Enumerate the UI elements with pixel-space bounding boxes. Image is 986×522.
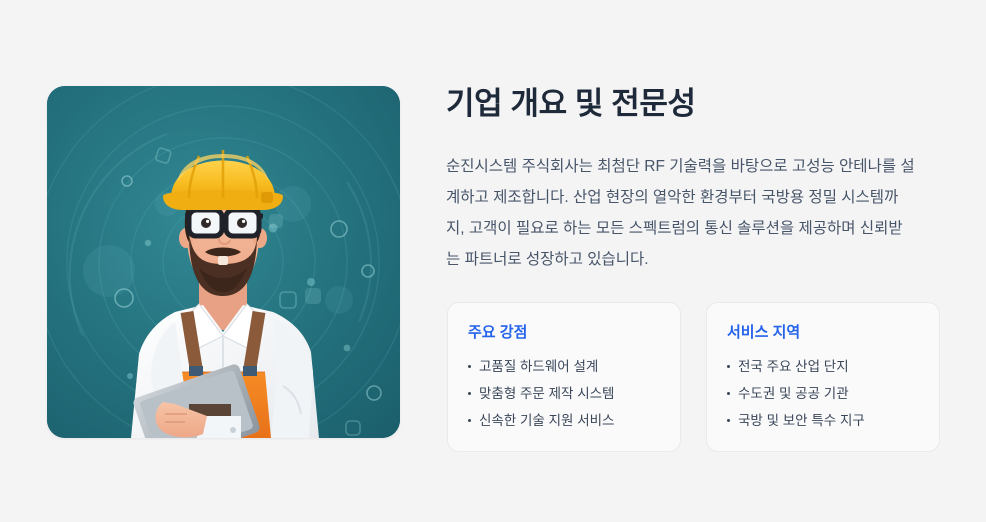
list-item-label: 신속한 기술 지원 서비스 [479, 413, 614, 428]
engineer-illustration-graphic [47, 86, 400, 438]
list-item: 신속한 기술 지원 서비스 [468, 407, 660, 434]
bullet-icon [468, 419, 471, 422]
intro-paragraph: 순진시스템 주식회사는 최첨단 RF 기술력을 바탕으로 고성능 안테나를 설계… [446, 151, 916, 275]
bullet-icon [727, 392, 730, 395]
highlight-card-row: 주요 강점 고품질 하드웨어 설계 맞춤형 주문 제작 시스템 신속한 기술 지… [447, 302, 940, 452]
list-item-label: 국방 및 보안 특수 지구 [738, 413, 865, 428]
card-key-strengths: 주요 강점 고품질 하드웨어 설계 맞춤형 주문 제작 시스템 신속한 기술 지… [447, 302, 681, 452]
card-list-key-strengths: 고품질 하드웨어 설계 맞춤형 주문 제작 시스템 신속한 기술 지원 서비스 [468, 353, 660, 434]
card-title-key-strengths: 주요 강점 [468, 322, 660, 344]
overview-text-block: 기업 개요 및 전문성 순진시스템 주식회사는 최첨단 RF 기술력을 바탕으로… [446, 84, 942, 275]
list-item: 전국 주요 산업 단지 [727, 353, 919, 380]
bullet-icon [468, 365, 471, 368]
list-item-label: 전국 주요 산업 단지 [738, 359, 849, 374]
list-item: 고품질 하드웨어 설계 [468, 353, 660, 380]
list-item-label: 맞춤형 주문 제작 시스템 [479, 386, 614, 401]
card-service-areas: 서비스 지역 전국 주요 산업 단지 수도권 및 공공 기관 국방 및 보안 특… [706, 302, 940, 452]
page-title: 기업 개요 및 전문성 [446, 84, 942, 124]
card-title-service-areas: 서비스 지역 [727, 322, 919, 344]
bullet-icon [727, 419, 730, 422]
card-list-service-areas: 전국 주요 산업 단지 수도권 및 공공 기관 국방 및 보안 특수 지구 [727, 353, 919, 434]
list-item: 수도권 및 공공 기관 [727, 380, 919, 407]
bullet-icon [468, 392, 471, 395]
list-item: 맞춤형 주문 제작 시스템 [468, 380, 660, 407]
engineer-illustration [47, 86, 400, 438]
list-item: 국방 및 보안 특수 지구 [727, 407, 919, 434]
bullet-icon [727, 365, 730, 368]
list-item-label: 수도권 및 공공 기관 [738, 386, 849, 401]
company-overview-section: 기업 개요 및 전문성 순진시스템 주식회사는 최첨단 RF 기술력을 바탕으로… [0, 0, 986, 522]
list-item-label: 고품질 하드웨어 설계 [479, 359, 598, 374]
